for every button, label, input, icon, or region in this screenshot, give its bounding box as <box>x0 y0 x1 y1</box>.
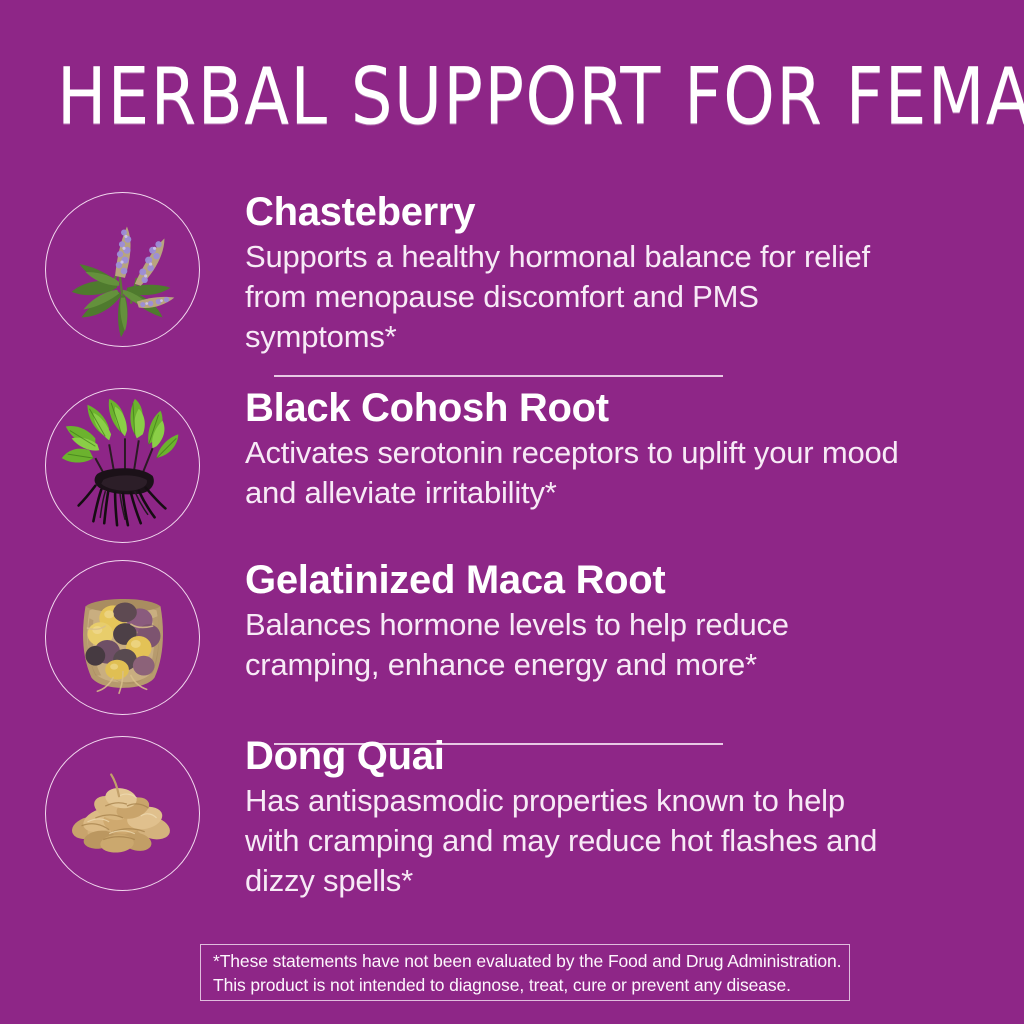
icon-circle <box>45 560 200 715</box>
herb-name: Gelatinized Maca Root <box>245 557 904 603</box>
list-item: Gelatinized Maca Root Balances hormone l… <box>0 551 1024 727</box>
icon-circle <box>45 192 200 347</box>
page-title: Herbal Support for Female Balance <box>57 49 977 147</box>
herb-name: Dong Quai <box>245 733 904 779</box>
list-item: Black Cohosh Root Activates serotonin re… <box>0 379 1024 551</box>
herb-description: Balances hormone levels to help reduce c… <box>245 605 904 685</box>
herb-description: Activates serotonin receptors to uplift … <box>245 433 904 513</box>
herb-name: Black Cohosh Root <box>245 385 904 431</box>
herb-name: Chasteberry <box>245 189 904 235</box>
chasteberry-plant-icon <box>46 193 199 346</box>
black-cohosh-root-icon <box>46 389 199 542</box>
infographic-root: Herbal Support for Female Balance <box>0 0 1024 1024</box>
list-item: Chasteberry Supports a healthy hormonal … <box>0 183 1024 379</box>
herb-text-cell: Chasteberry Supports a healthy hormonal … <box>245 183 1024 357</box>
list-item: Dong Quai Has antispasmodic properties k… <box>0 727 1024 917</box>
herb-list: Chasteberry Supports a healthy hormonal … <box>0 183 1024 917</box>
herb-icon-cell <box>0 727 245 891</box>
maca-root-bag-icon <box>46 561 199 714</box>
icon-circle <box>45 736 200 891</box>
icon-circle <box>45 388 200 543</box>
disclaimer-line-2: This product is not intended to diagnose… <box>213 973 837 997</box>
disclaimer-line-1: *These statements have not been evaluate… <box>213 949 837 973</box>
herb-icon-cell <box>0 379 245 543</box>
herb-text-cell: Gelatinized Maca Root Balances hormone l… <box>245 551 1024 685</box>
herb-icon-cell <box>0 183 245 347</box>
herb-text-cell: Black Cohosh Root Activates serotonin re… <box>245 379 1024 513</box>
herb-icon-cell <box>0 551 245 715</box>
divider <box>274 375 723 377</box>
herb-text-cell: Dong Quai Has antispasmodic properties k… <box>245 727 1024 901</box>
herb-description: Has antispasmodic properties known to he… <box>245 781 904 901</box>
herb-description: Supports a healthy hormonal balance for … <box>245 237 904 357</box>
dong-quai-root-slices-icon <box>46 737 199 890</box>
disclaimer-box: *These statements have not been evaluate… <box>200 944 850 1001</box>
